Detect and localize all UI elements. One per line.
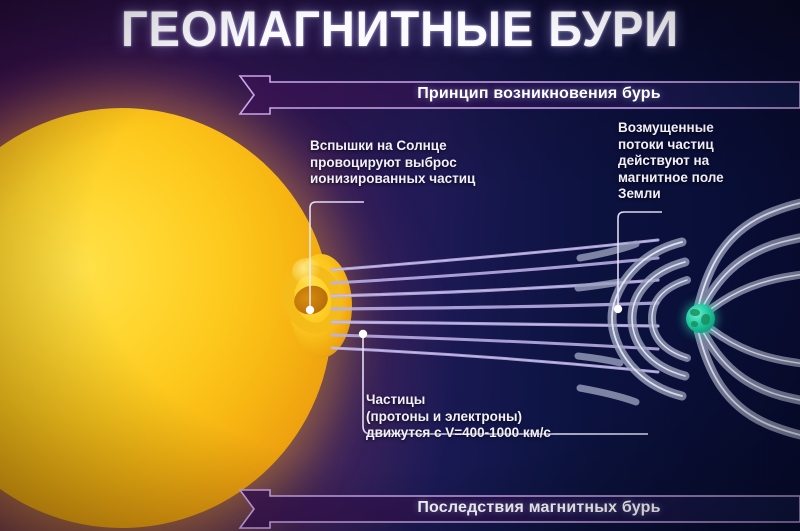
callout-particle-speed: Частицы (протоны и электроны) движутся с… [366, 392, 656, 442]
callout-magnetic-field: Возмущенные потоки частиц действуют на м… [618, 120, 778, 203]
earth-globe [686, 304, 715, 333]
earth-landmass [691, 321, 698, 327]
page-title: ГЕОМАГНИТНЫЕ БУРИ [24, 2, 776, 56]
earth-landmass [701, 314, 710, 325]
earth-landmass [690, 309, 700, 316]
callout-solar-flare: Вспышки на Солнце провоцируют выброс ион… [310, 138, 550, 188]
banner-consequences-label: Последствия магнитных бурь [232, 486, 800, 530]
banner-consequences[interactable]: Последствия магнитных бурь [232, 486, 800, 530]
banner-principle[interactable]: Принцип возникновения бурь [232, 72, 800, 116]
infographic-poster: ГЕОМАГНИТНЫЕ БУРИ Принцип возникновения … [0, 0, 800, 531]
leader-line-flare [300, 196, 370, 326]
banner-principle-label: Принцип возникновения бурь [232, 72, 800, 116]
leader-line-field [606, 208, 666, 328]
